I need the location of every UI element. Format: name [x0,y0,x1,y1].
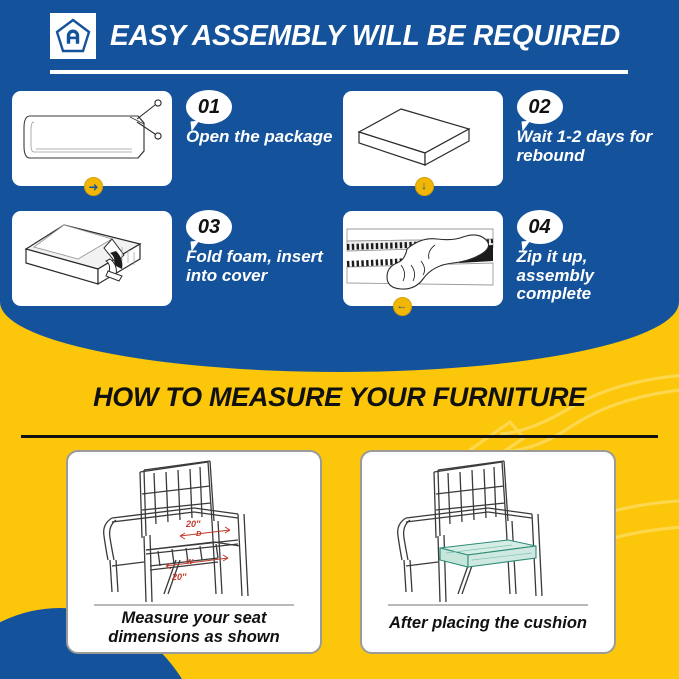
chair-with-dimensions-icon: 20″ D W 20″ [68,454,320,604]
arrow-right-icon: ➜ [84,177,103,196]
svg-text:D: D [196,529,202,538]
measure-card-caption: Measure your seat dimensions as shown [68,609,320,648]
card-divider [388,604,588,606]
measure-card-caption: After placing the cushion [362,614,614,633]
measure-cards: 20″ D W 20″ Measure your seat dimensions… [66,450,616,655]
step-02: ↓ 02 Wait 1-2 days for rebound [343,88,668,200]
step-01-label: Open the package [186,128,332,147]
step-03-number: 03 [186,210,232,244]
step-04: ← 04 Zip it up, assembly complete [343,208,668,320]
assembly-section: EASY ASSEMBLY WILL BE REQUIRED [0,0,679,372]
step-02-label: Wait 1-2 days for rebound [517,128,668,165]
svg-text:20″: 20″ [171,572,187,582]
step-03-text: 03 Fold foam, insert into cover [186,210,337,285]
step-01-text: 01 Open the package [186,90,332,147]
step-01-number: 01 [186,90,232,124]
arrow-down-icon: ↓ [415,177,434,196]
fold-foam-into-cover-icon [12,211,172,306]
assembly-steps-grid: ➜ 01 Open the package ↓ [12,88,667,320]
step-03-label: Fold foam, insert into cover [186,248,337,285]
measure-card-dimensions: 20″ D W 20″ Measure your seat dimensions… [66,450,322,654]
page-title: EASY ASSEMBLY WILL BE REQUIRED [110,20,620,53]
card-divider [94,604,294,606]
svg-text:W: W [186,557,194,566]
measure-card-cushion: After placing the cushion [360,450,616,654]
measure-section-title: HOW TO MEASURE YOUR FURNITURE [0,382,679,413]
step-01: ➜ 01 Open the package [12,88,337,200]
step-04-number: 04 [517,210,563,244]
chair-with-cushion-icon [362,454,614,604]
infographic-page: EASY ASSEMBLY WILL BE REQUIRED [0,0,679,679]
header-divider [50,70,628,74]
step-03: 03 Fold foam, insert into cover [12,208,337,320]
arrow-left-icon: ← [393,297,412,316]
step-02-text: 02 Wait 1-2 days for rebound [517,90,668,165]
step-04-label: Zip it up, assembly complete [517,248,668,304]
step-02-number: 02 [517,90,563,124]
package-bag-with-scissors-icon: ➜ [12,91,172,186]
foam-cushion-slab-icon: ↓ [343,91,503,186]
svg-text:20″: 20″ [185,519,201,529]
house-pentagon-logo-icon [50,13,96,59]
step-04-text: 04 Zip it up, assembly complete [517,210,668,304]
measure-divider [21,435,658,438]
assembly-header: EASY ASSEMBLY WILL BE REQUIRED [0,8,679,64]
hand-zipping-cushion-icon: ← [343,211,503,306]
